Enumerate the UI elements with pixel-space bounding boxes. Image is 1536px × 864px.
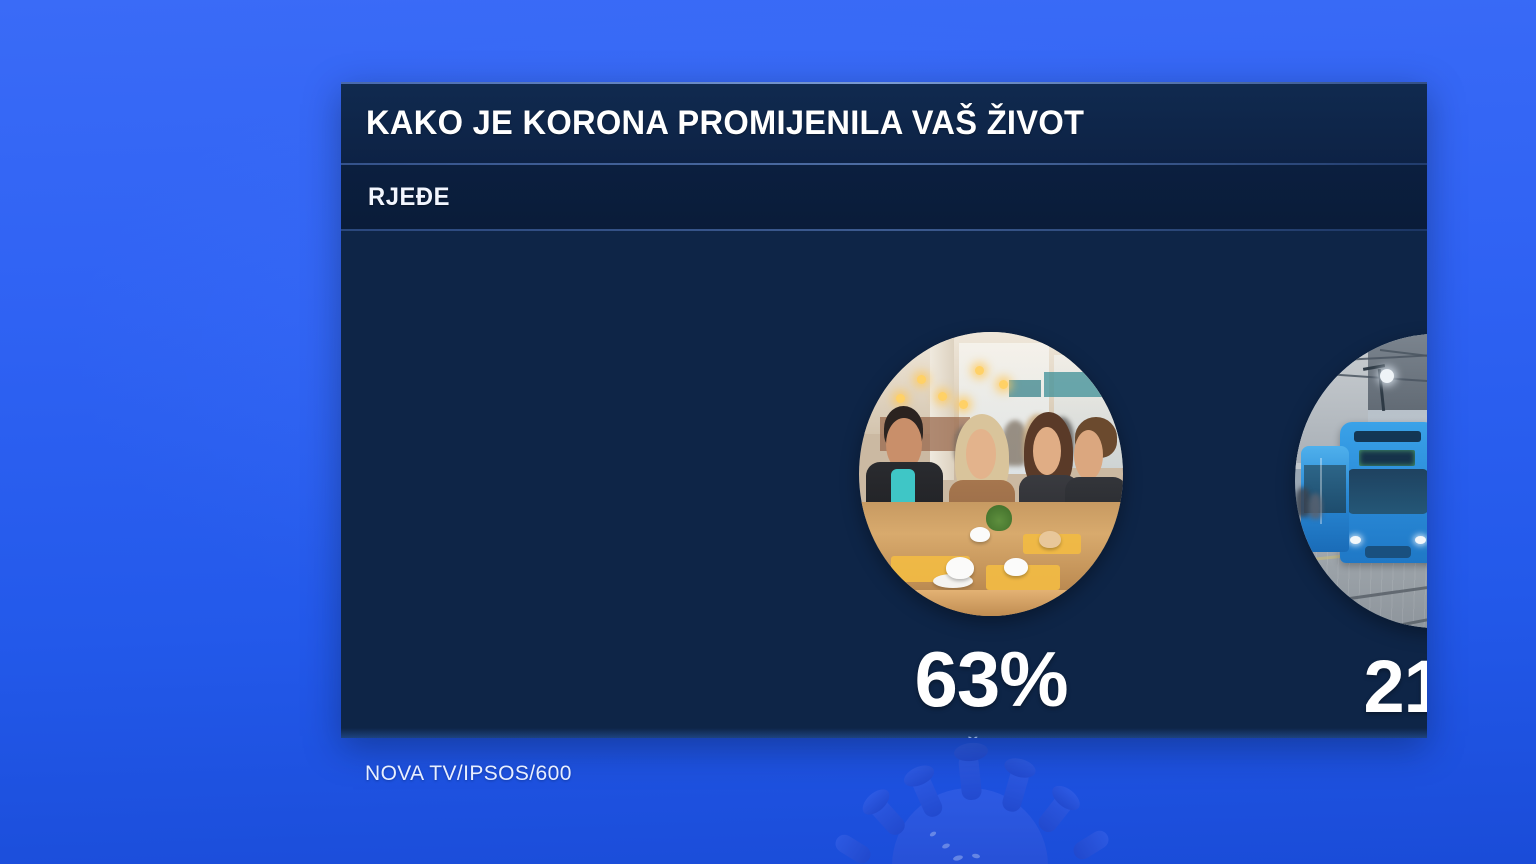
- source-credit: NOVA TV/IPSOS/600: [365, 762, 572, 786]
- stat-value-public-transport: 21%: [1191, 650, 1427, 724]
- broadcast-graphic: KAKO JE KORONA PROMIJENILA VAŠ ŽIVOT RJE…: [0, 0, 1536, 864]
- stat-card: KAKO JE KORONA PROMIJENILA VAŠ ŽIVOT RJE…: [341, 82, 1427, 738]
- friends-at-cafe-photo: [859, 332, 1123, 616]
- card-header: KAKO JE KORONA PROMIJENILA VAŠ ŽIVOT: [341, 84, 1427, 163]
- stat-item-friends: 63% DRUŽENJE S PRIJATELJIMA/RODBINOM: [741, 231, 1241, 738]
- stat-value-friends: 63%: [741, 640, 1241, 718]
- card-body: 63% DRUŽENJE S PRIJATELJIMA/RODBINOM: [341, 231, 1427, 738]
- card-subtitle: RJEĐE: [368, 183, 450, 212]
- card-subheader: RJEĐE: [341, 165, 1427, 229]
- card-bottom-glow: [341, 728, 1427, 738]
- coronavirus-icon: [800, 726, 1140, 864]
- stat-item-public-transport: 21% JAVNI PRIJEVOZ: [1191, 231, 1427, 738]
- blue-trams-photo: [1295, 334, 1427, 628]
- page-title: KAKO JE KORONA PROMIJENILA VAŠ ŽIVOT: [366, 104, 1084, 143]
